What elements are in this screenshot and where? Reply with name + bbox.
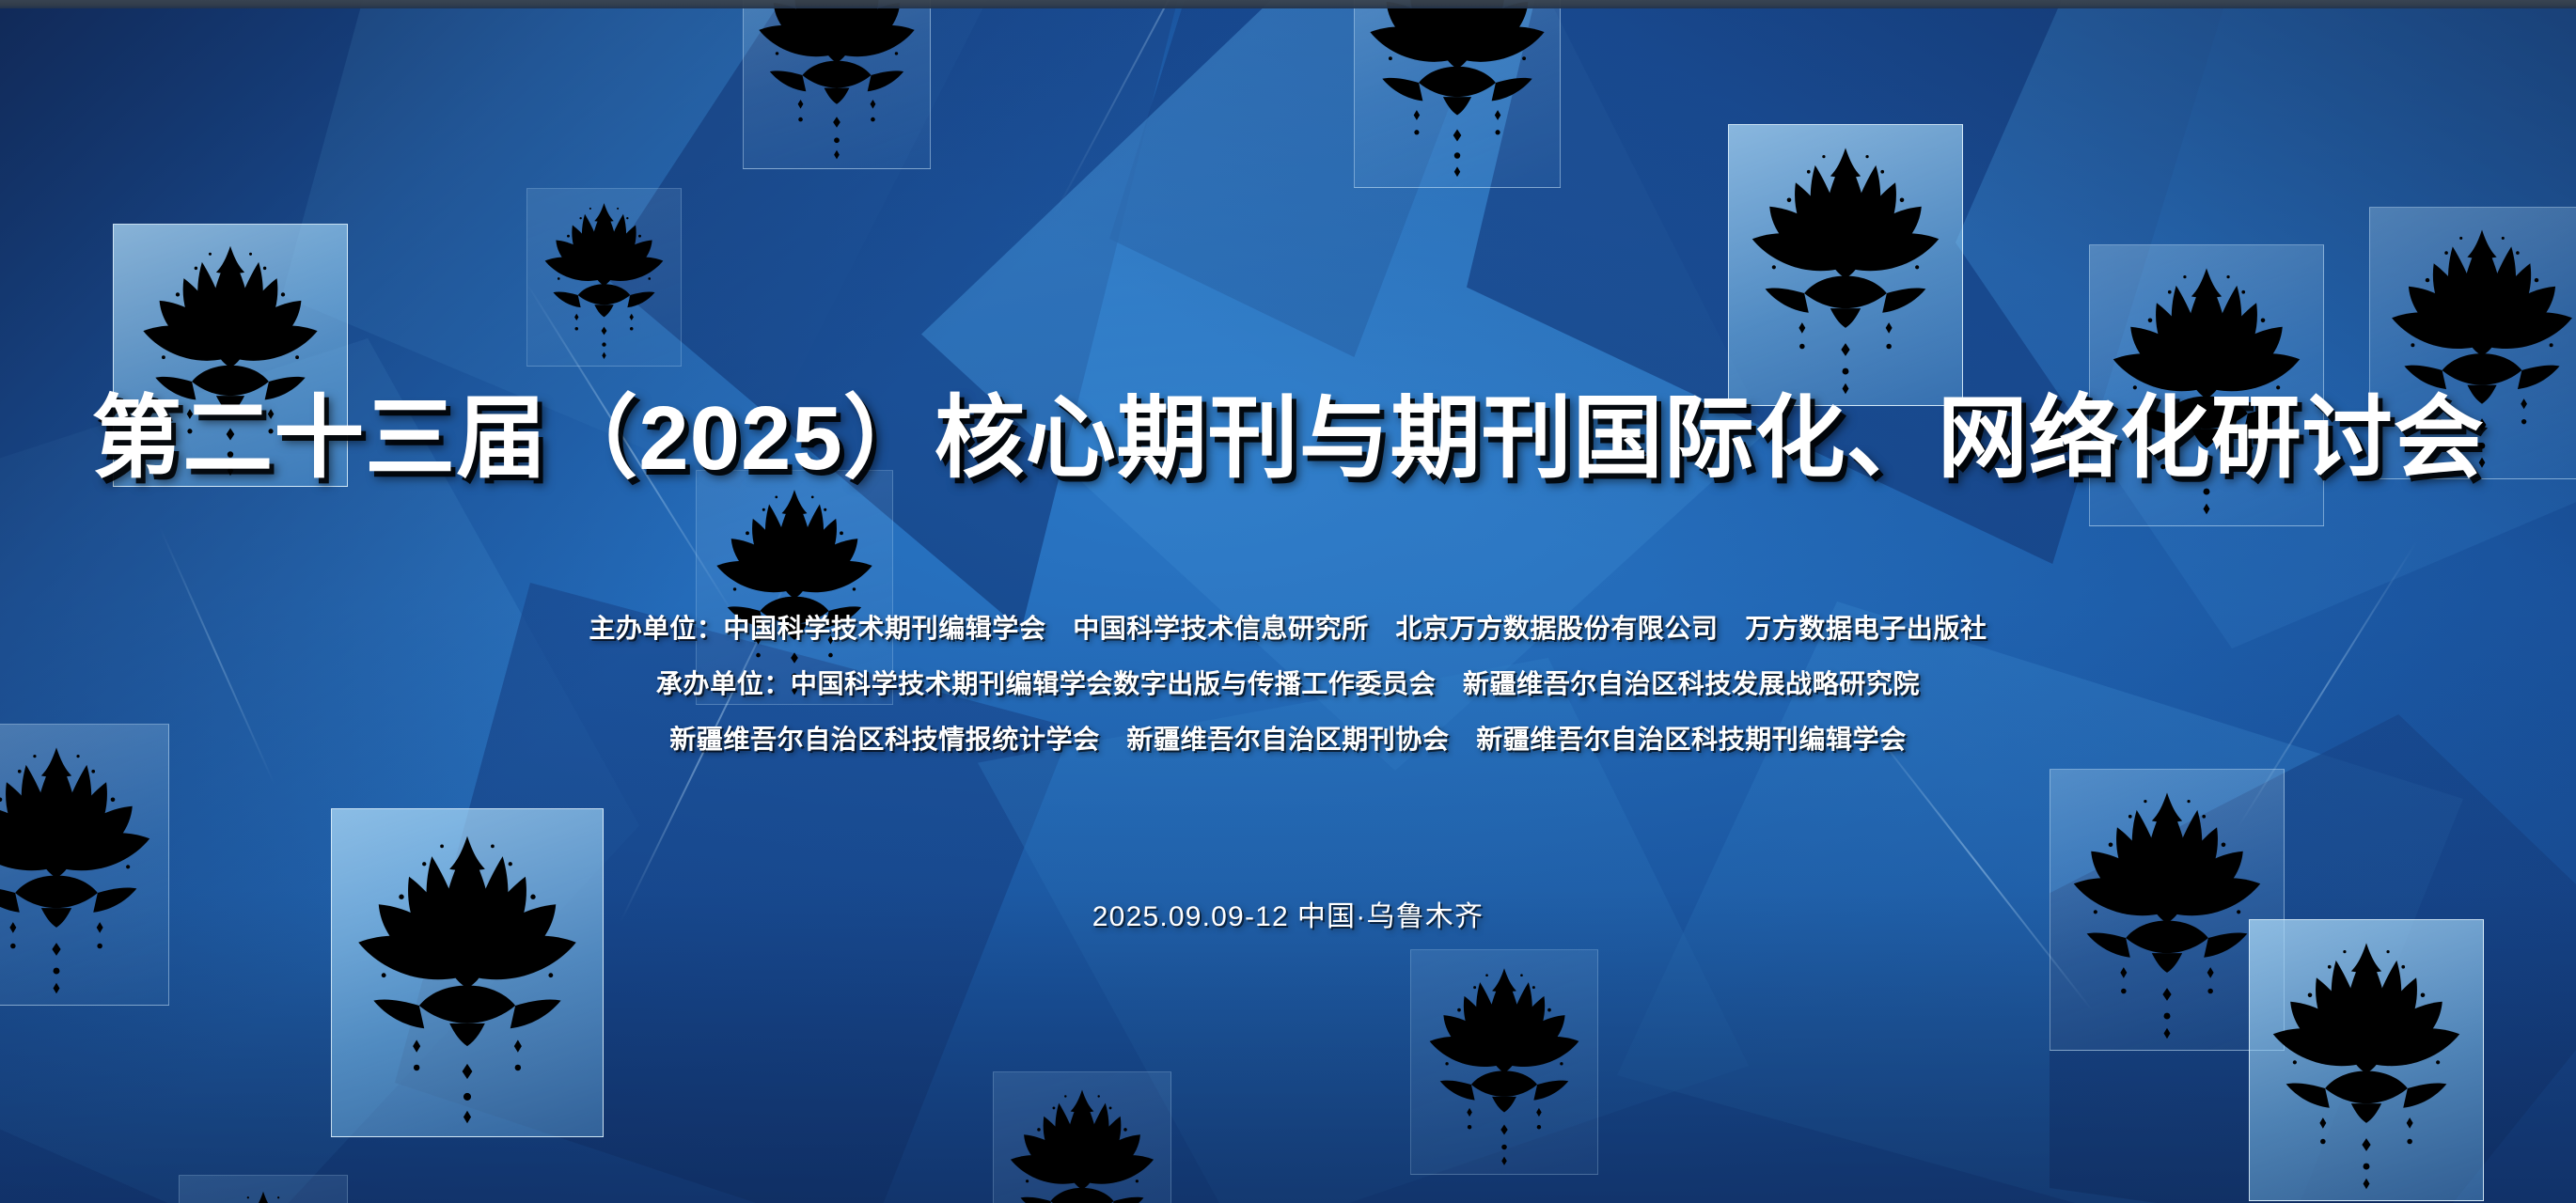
lotus-tile (2249, 919, 2484, 1201)
lotus-mandala-icon (1410, 949, 1598, 1175)
lotus-mandala-icon (331, 808, 604, 1137)
lotus-tile (1410, 949, 1598, 1175)
top-edge-strip (0, 0, 2576, 8)
lotus-mandala-icon (2249, 919, 2484, 1201)
event-info: 2025.09.09-12 中国·乌鲁木齐 (0, 893, 2576, 934)
organizer-line-coorganizer: 承办单位：中国科学技术期刊编辑学会数字出版与传播工作委员会 新疆维吾尔自治区科技… (0, 671, 2576, 697)
lotus-mandala-icon (993, 1071, 1171, 1203)
lotus-tile (1728, 124, 1963, 406)
lotus-mandala-icon (179, 1175, 348, 1203)
banner-title: 第二十三届（2025）核心期刊与期刊国际化、网络化研讨会 (0, 365, 2576, 495)
lotus-tile (743, 0, 931, 169)
lotus-tile (331, 808, 604, 1137)
event-location: 中国·乌鲁木齐 (1297, 893, 1484, 934)
lotus-mandala-icon (526, 188, 682, 367)
lotus-mandala-icon (1728, 124, 1963, 406)
lotus-tile (179, 1175, 348, 1203)
conference-banner: 第二十三届（2025）核心期刊与期刊国际化、网络化研讨会 主办单位：中国科学技术… (0, 0, 2576, 1203)
lotus-mandala-icon (743, 0, 931, 169)
organizer-block: 主办单位：中国科学技术期刊编辑学会 中国科学技术信息研究所 北京万方数据股份有限… (0, 616, 2576, 782)
organizer-line-coorganizer-continued: 新疆维吾尔自治区科技情报统计学会 新疆维吾尔自治区期刊协会 新疆维吾尔自治区科技… (0, 726, 2576, 753)
lotus-tile (993, 1071, 1171, 1203)
lotus-tile (526, 188, 682, 367)
lotus-tile (1354, 0, 1561, 188)
lotus-mandala-icon (1354, 0, 1561, 188)
event-date: 2025.09.09-12 (1092, 901, 1289, 933)
organizer-line-host: 主办单位：中国科学技术期刊编辑学会 中国科学技术信息研究所 北京万方数据股份有限… (0, 616, 2576, 642)
